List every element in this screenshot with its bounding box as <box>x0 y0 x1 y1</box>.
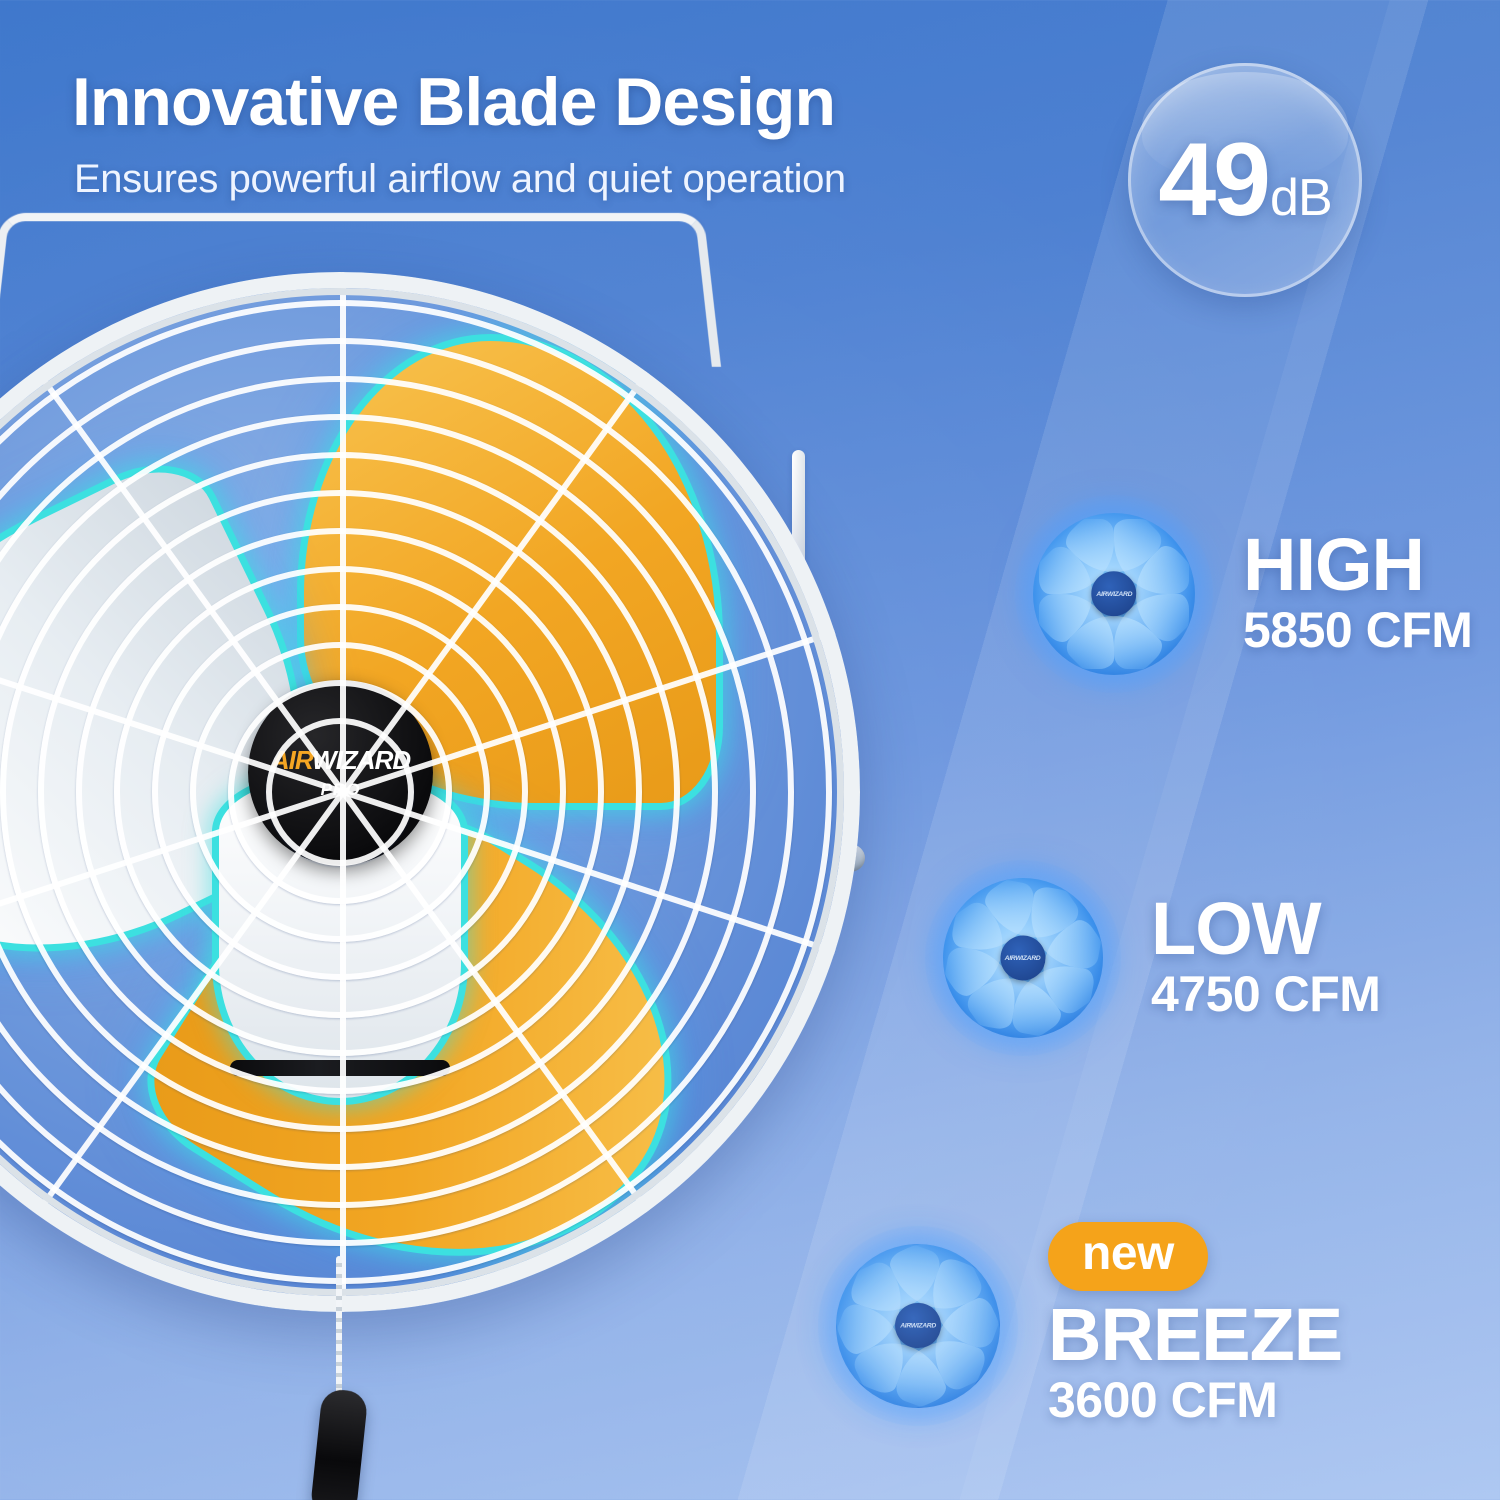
fan-icon-hub: AIRWIZARD <box>895 1303 941 1349</box>
fan-spinning-icon: AIRWIZARD <box>1015 495 1213 693</box>
fan-cage-rim <box>0 272 860 1312</box>
status-badge-new: new <box>1048 1222 1208 1291</box>
noise-level-value: 49 <box>1158 121 1268 240</box>
page-subtitle: Ensures powerful airflow and quiet opera… <box>74 155 1074 203</box>
fan-icon-hub-label: AIRWIZARD <box>900 1322 936 1330</box>
fan-icon-hub: AIRWIZARD <box>1001 936 1046 981</box>
speed-name: LOW <box>1151 893 1380 966</box>
speed-cfm: 4750 CFM <box>1151 966 1380 1024</box>
fan-icon-hub-label: AIRWIZARD <box>1005 954 1041 962</box>
fan-icon-disc: AIRWIZARD <box>1033 513 1195 675</box>
speed-name: HIGH <box>1243 529 1472 602</box>
noise-level-unit: dB <box>1270 168 1332 228</box>
speed-cfm: 3600 CFM <box>1048 1372 1342 1430</box>
speed-row-low: AIRWIZARD LOW 4750 CFM <box>925 860 1380 1056</box>
page-title: Innovative Blade Design <box>72 66 1052 138</box>
product-image-wall-fan: AIRWIZARD PRO <box>0 200 960 1380</box>
speed-row-breeze: AIRWIZARD new BREEZE 3600 CFM <box>818 1222 1342 1429</box>
pull-chain-icon <box>336 1256 342 1406</box>
fan-icon-disc: AIRWIZARD <box>943 878 1104 1039</box>
speed-row-high: AIRWIZARD HIGH 5850 CFM <box>1015 495 1472 693</box>
fan-cage: AIRWIZARD PRO <box>0 272 860 1312</box>
noise-level-badge: 49 dB <box>1128 63 1362 297</box>
speed-name: BREEZE <box>1048 1299 1342 1372</box>
fan-spinning-icon: AIRWIZARD <box>925 860 1121 1056</box>
pull-chain-knob <box>309 1388 368 1500</box>
speed-text-low: LOW 4750 CFM <box>1151 893 1380 1023</box>
speed-text-breeze: new BREEZE 3600 CFM <box>1048 1222 1342 1429</box>
fan-icon-disc: AIRWIZARD <box>836 1244 1000 1408</box>
noise-level-content: 49 dB <box>1158 121 1331 240</box>
fan-spinning-icon: AIRWIZARD <box>818 1226 1018 1426</box>
fan-icon-hub-label: AIRWIZARD <box>1096 590 1132 598</box>
speed-text-high: HIGH 5850 CFM <box>1243 529 1472 659</box>
speed-cfm: 5850 CFM <box>1243 602 1472 660</box>
